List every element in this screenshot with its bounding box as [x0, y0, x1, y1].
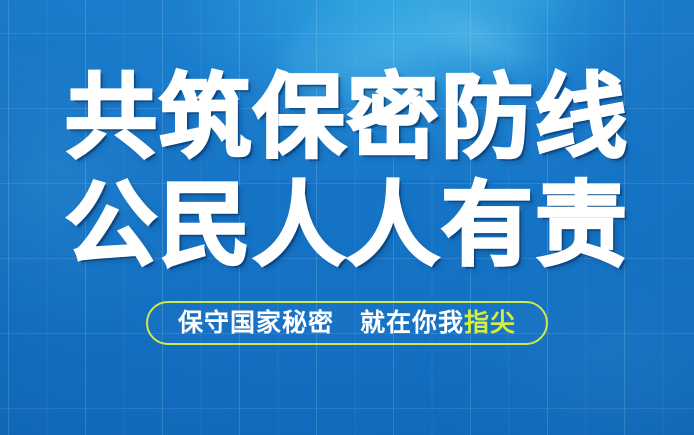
headline-line-1: 共筑保密防线 — [0, 72, 694, 164]
subtitle-segment-its-up-to-us: 就在你我 — [360, 311, 464, 336]
subtitle-text: 保守国家秘密 就在你我 指尖 — [178, 311, 516, 336]
subtitle-pill: 保守国家秘密 就在你我 指尖 — [146, 301, 548, 345]
subtitle-segment-fingertips-accent: 指尖 — [464, 311, 516, 336]
poster-content: 共筑保密防线 公民人人有责 保守国家秘密 就在你我 指尖 — [0, 0, 694, 435]
headline-line-2: 公民人人有责 — [0, 180, 694, 272]
secrecy-awareness-poster: 共筑保密防线 公民人人有责 保守国家秘密 就在你我 指尖 — [0, 0, 694, 435]
subtitle-segment-keep-secrets: 保守国家秘密 — [178, 311, 334, 336]
